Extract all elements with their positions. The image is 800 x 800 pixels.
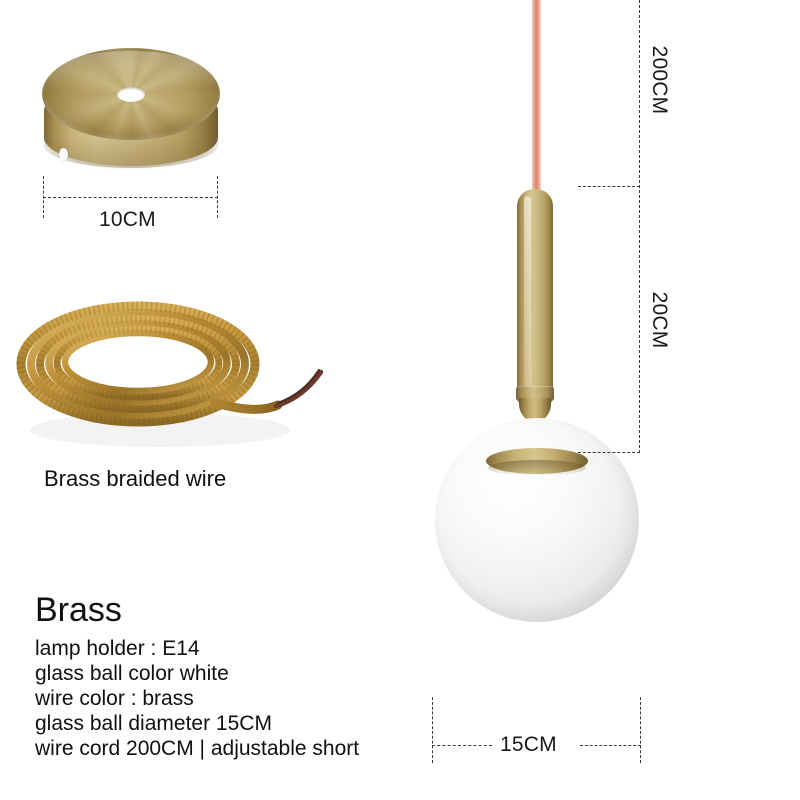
canopy-dim-line: [43, 197, 218, 198]
wire-caption-label: Brass braided wire: [44, 466, 226, 492]
canopy-dimension-label: 10CM: [99, 208, 156, 232]
cord-dimension-tick: [578, 186, 640, 187]
canopy-center-hole: [117, 87, 145, 102]
specification-block: Brass lamp holder : E14 glass ball color…: [35, 590, 455, 761]
spec-line-wire-color: wire color : brass: [35, 686, 455, 711]
ball-dim-tick-right: [640, 697, 641, 763]
spec-title: Brass: [35, 590, 455, 630]
canopy-band-shading: [44, 136, 218, 168]
cord-length-label: 200CM: [647, 40, 671, 120]
lamp-hanging-cord: [532, 0, 541, 196]
braided-wire-coil: [10, 300, 330, 455]
product-spec-image: 10CM: [0, 0, 800, 800]
lamp-cylinder-highlight: [524, 196, 531, 392]
canopy-illustration: [36, 48, 226, 188]
vertical-dimension-axis: [639, 0, 640, 453]
ball-diameter-label: 15CM: [500, 733, 557, 757]
ball-dim-line-right: [580, 745, 641, 746]
body-length-label: 20CM: [647, 286, 671, 354]
lamp-brass-cylinder: [517, 189, 553, 404]
spec-line-ball-color: glass ball color white: [35, 661, 455, 686]
lamp-collar-shading: [488, 460, 586, 476]
body-dimension-tick: [578, 452, 640, 453]
spec-line-wire-cord: wire cord 200CM | adjustable short: [35, 736, 455, 761]
canopy-screw-hole: [59, 148, 68, 161]
wire-coil-svg: [10, 300, 330, 455]
spec-line-ball-diameter: glass ball diameter 15CM: [35, 711, 455, 736]
spec-line-lamp-holder: lamp holder : E14: [35, 636, 455, 661]
